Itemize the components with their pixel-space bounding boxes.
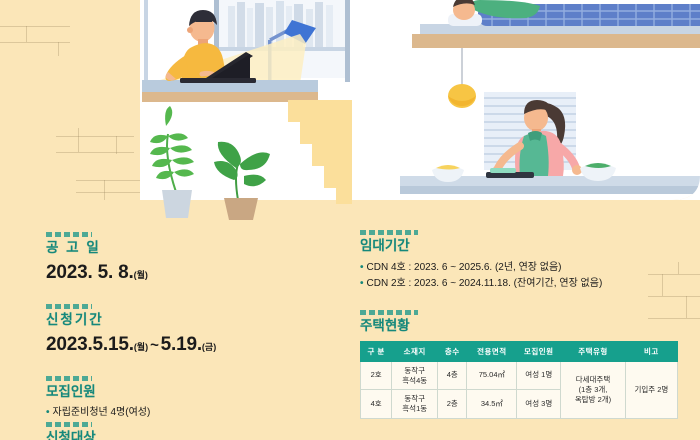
announce-date-value: 2023. 5. 8.(월) — [46, 263, 336, 284]
bullet-dot-icon: • — [46, 407, 50, 418]
announce-date-section: 공 고 일 2023. 5. 8.(월) — [46, 232, 336, 284]
announce-date-dow: (월) — [134, 270, 148, 280]
lease-period-item: •CDN 2호 : 2023. 6 ~ 2024.11.18. (잔여기간, 연… — [360, 277, 680, 291]
cell-location: 동작구흑석1동 — [392, 390, 438, 419]
bullet-dot-icon: • — [360, 278, 364, 289]
lease-period-text: CDN 2호 : 2023. 6 ~ 2024.11.18. (잔여기간, 연장… — [367, 278, 603, 289]
lease-period-item: •CDN 4호 : 2023. 6 ~ 2025.6. (2년, 연장 없음) — [360, 261, 680, 275]
left-column: 공 고 일 2023. 5. 8.(월) 신청기간 2023.5.15.(월)~… — [46, 232, 336, 423]
kicker-dash — [360, 230, 418, 235]
lease-period-heading: 임대기간 — [360, 238, 680, 255]
apply-period-heading: 신청기간 — [46, 312, 336, 329]
announce-date-text: 2023. 5. 8. — [46, 262, 134, 283]
cell-area: 75.04㎡ — [467, 361, 517, 390]
cell-area: 34.5㎡ — [467, 390, 517, 419]
cell-location: 동작구흑석4동 — [392, 361, 438, 390]
housing-status-heading: 주택현황 — [360, 318, 680, 335]
recruit-count-item: •자립준비청년 4명(여성) — [46, 406, 336, 420]
col-header-floor: 층수 — [438, 341, 467, 361]
cell-floor: 4층 — [438, 361, 467, 390]
kicker-dash — [46, 232, 92, 237]
table-row: 2호 동작구흑석4동 4층 75.04㎡ 여성 1명 다세대주택(1층 3개,옥… — [361, 361, 678, 390]
apply-start-dow: (월) — [134, 342, 148, 352]
cell-gubun: 2호 — [361, 361, 392, 390]
apply-period-section: 신청기간 2023.5.15.(월)~5.19.(금) — [46, 304, 336, 356]
housing-status-table: 구 분 소재지 층수 전용면적 모집인원 주택유형 비고 2호 동작구흑석4동 — [360, 341, 678, 419]
apply-end-date: 5.19. — [161, 334, 202, 355]
table-header-row: 구 분 소재지 층수 전용면적 모집인원 주택유형 비고 — [361, 341, 678, 361]
poster-root: 공 고 일 2023. 5. 8.(월) 신청기간 2023.5.15.(월)~… — [0, 0, 700, 440]
col-header-location: 소재지 — [392, 341, 438, 361]
apply-start-date: 2023.5.15. — [46, 334, 134, 355]
apply-end-dow: (금) — [202, 342, 216, 352]
cell-gubun: 4호 — [361, 390, 392, 419]
apply-target-heading: 신청대상 — [46, 430, 246, 440]
cell-recruit: 여성 1명 — [517, 361, 561, 390]
recruit-count-section: 모집인원 •자립준비청년 4명(여성) — [46, 376, 336, 420]
col-header-note: 비고 — [625, 341, 677, 361]
kicker-dash — [46, 376, 92, 381]
illustration — [0, 0, 700, 220]
cell-type: 다세대주택(1층 3개,옥탑방 2개) — [561, 361, 626, 418]
announce-date-heading: 공 고 일 — [46, 240, 336, 257]
cell-note: 기입주 2명 — [625, 361, 677, 418]
content-area: 공 고 일 2023. 5. 8.(월) 신청기간 2023.5.15.(월)~… — [0, 220, 700, 440]
kicker-dash — [46, 304, 92, 309]
lease-period-section: 임대기간 •CDN 4호 : 2023. 6 ~ 2025.6. (2년, 연장… — [360, 230, 680, 291]
apply-target-section: 신청대상 — [46, 422, 246, 440]
col-header-type: 주택유형 — [561, 341, 626, 361]
recruit-count-text: 자립준비청년 4명(여성) — [53, 407, 151, 418]
col-header-recruit: 모집인원 — [517, 341, 561, 361]
lease-period-text: CDN 4호 : 2023. 6 ~ 2025.6. (2년, 연장 없음) — [367, 262, 562, 273]
kicker-dash — [46, 422, 92, 427]
bullet-dot-icon: • — [360, 262, 364, 273]
apply-period-value: 2023.5.15.(월)~5.19.(금) — [46, 335, 336, 356]
spacer — [360, 294, 680, 310]
apply-range-tilde: ~ — [148, 337, 161, 354]
kicker-dash — [360, 310, 418, 315]
cell-floor: 2층 — [438, 390, 467, 419]
right-column: 임대기간 •CDN 4호 : 2023. 6 ~ 2025.6. (2년, 연장… — [360, 230, 680, 421]
recruit-count-heading: 모집인원 — [46, 384, 336, 401]
housing-status-section: 주택현황 구 분 소재지 — [360, 310, 680, 419]
col-header-area: 전용면적 — [467, 341, 517, 361]
col-header-gubun: 구 분 — [361, 341, 392, 361]
cell-recruit: 여성 3명 — [517, 390, 561, 419]
